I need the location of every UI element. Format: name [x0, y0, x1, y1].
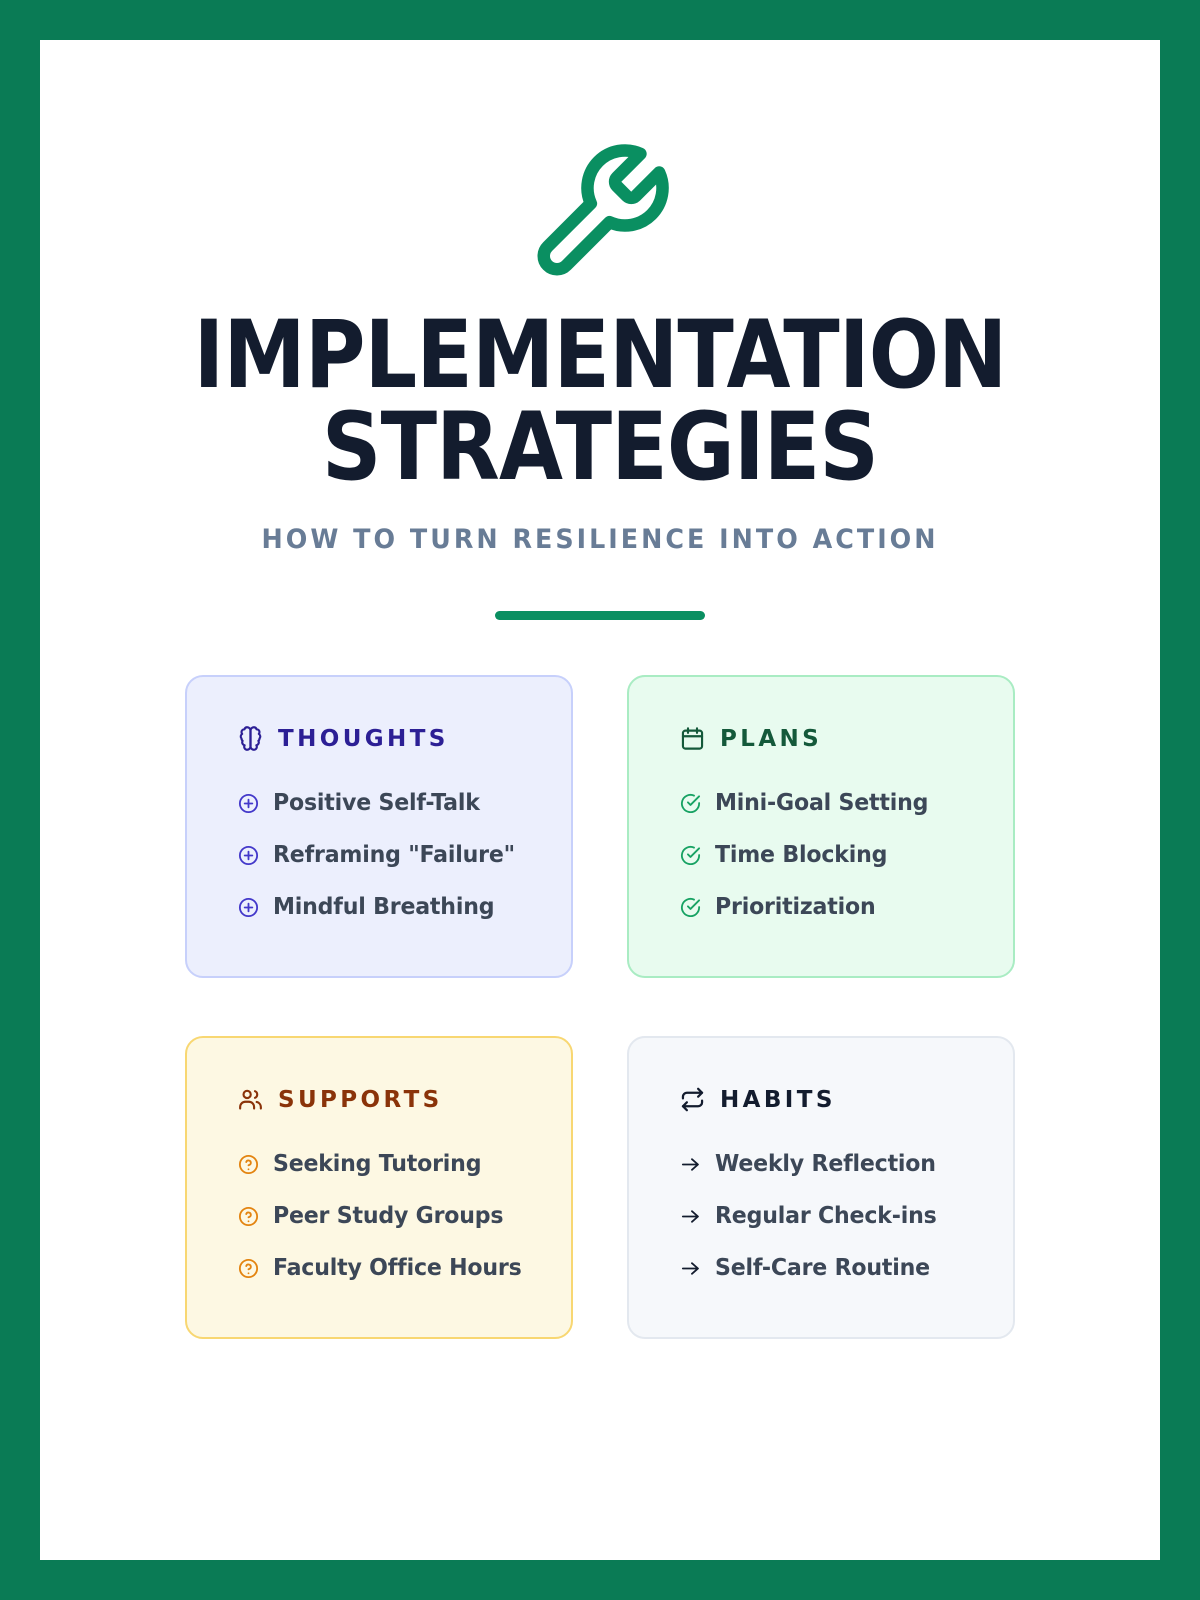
arrow-right-icon [679, 1205, 702, 1228]
check-circle-icon [679, 844, 702, 867]
list-item[interactable]: Weekly Reflection [679, 1138, 1013, 1190]
divider-bar [495, 611, 705, 620]
infographic-page: IMPLEMENTATION STRATEGIES HOW TO TURN RE… [40, 40, 1160, 1560]
page-title-line-1: IMPLEMENTATION [107, 310, 1093, 402]
card-plans-title: PLANS [720, 726, 822, 752]
list-item[interactable]: Mini-Goal Setting [679, 777, 1013, 829]
list-item[interactable]: Seeking Tutoring [237, 1138, 571, 1190]
page-subtitle: HOW TO TURN RESILIENCE INTO ACTION [74, 524, 1127, 555]
list-item[interactable]: Self-Care Routine [679, 1242, 1013, 1294]
question-circle-icon [237, 1257, 260, 1280]
list-item-label: Mindful Breathing [273, 894, 494, 920]
list-item-label: Self-Care Routine [715, 1255, 930, 1281]
card-habits-list: Weekly Reflection Regular Check-ins Self… [679, 1138, 1013, 1294]
list-item-label: Positive Self-Talk [273, 790, 480, 816]
card-habits-title: HABITS [720, 1087, 836, 1113]
page-title-line-2: STRATEGIES [107, 402, 1093, 494]
list-item-label: Reframing "Failure" [273, 842, 515, 868]
card-thoughts-list: Positive Self-Talk Reframing "Failure" M… [237, 777, 571, 933]
list-item-label: Time Blocking [715, 842, 887, 868]
plus-circle-icon [237, 792, 260, 815]
check-circle-icon [679, 896, 702, 919]
users-icon [237, 1086, 264, 1113]
repeat-icon [679, 1086, 706, 1113]
page-title: IMPLEMENTATION STRATEGIES [107, 310, 1093, 494]
calendar-icon [679, 725, 706, 752]
question-circle-icon [237, 1153, 260, 1176]
list-item-label: Mini-Goal Setting [715, 790, 928, 816]
list-item[interactable]: Time Blocking [679, 829, 1013, 881]
strategy-card-grid: THOUGHTS Positive Self-Talk Reframing "F… [185, 675, 1015, 1339]
card-supports-list: Seeking Tutoring Peer Study Groups [237, 1138, 571, 1294]
plus-circle-icon [237, 844, 260, 867]
plus-circle-icon [237, 896, 260, 919]
list-item[interactable]: Mindful Breathing [237, 881, 571, 933]
card-habits: HABITS Weekly Reflection Regular Check-i… [627, 1036, 1015, 1339]
question-circle-icon [237, 1205, 260, 1228]
list-item[interactable]: Positive Self-Talk [237, 777, 571, 829]
card-plans-list: Mini-Goal Setting Time Blocking Prioriti… [679, 777, 1013, 933]
card-supports: SUPPORTS Seeking Tutoring [185, 1036, 573, 1339]
list-item[interactable]: Prioritization [679, 881, 1013, 933]
list-item-label: Seeking Tutoring [273, 1151, 481, 1177]
list-item[interactable]: Reframing "Failure" [237, 829, 571, 881]
list-item[interactable]: Regular Check-ins [679, 1190, 1013, 1242]
list-item-label: Weekly Reflection [715, 1151, 936, 1177]
list-item[interactable]: Peer Study Groups [237, 1190, 571, 1242]
card-supports-header: SUPPORTS [237, 1086, 571, 1113]
card-thoughts-header: THOUGHTS [237, 725, 571, 752]
list-item-label: Regular Check-ins [715, 1203, 937, 1229]
card-thoughts-title: THOUGHTS [278, 726, 449, 752]
card-habits-header: HABITS [679, 1086, 1013, 1113]
brain-icon [237, 725, 264, 752]
list-item[interactable]: Faculty Office Hours [237, 1242, 571, 1294]
card-thoughts: THOUGHTS Positive Self-Talk Reframing "F… [185, 675, 573, 978]
card-plans: PLANS Mini-Goal Setting Time Blocking [627, 675, 1015, 978]
list-item-label: Faculty Office Hours [273, 1255, 522, 1281]
header-block: IMPLEMENTATION STRATEGIES HOW TO TURN RE… [40, 40, 1160, 620]
card-supports-title: SUPPORTS [278, 1087, 443, 1113]
card-plans-header: PLANS [679, 725, 1013, 752]
list-item-label: Prioritization [715, 894, 875, 920]
check-circle-icon [679, 792, 702, 815]
list-item-label: Peer Study Groups [273, 1203, 503, 1229]
wrench-icon [525, 138, 675, 288]
arrow-right-icon [679, 1153, 702, 1176]
arrow-right-icon [679, 1257, 702, 1280]
